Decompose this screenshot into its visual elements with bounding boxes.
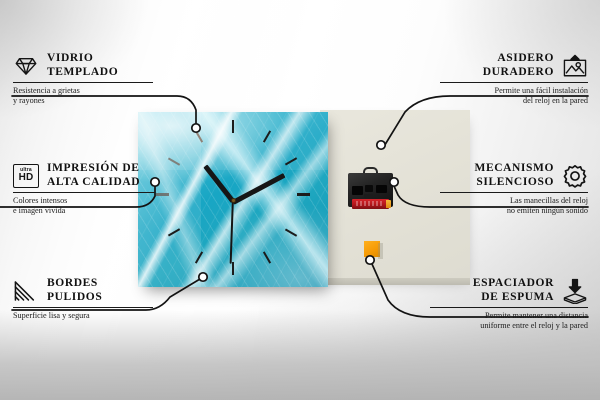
feature-title-line2: PULIDOS — [47, 291, 102, 305]
clock-center-pivot — [231, 198, 236, 203]
feature-title-line1: ASIDERO — [440, 52, 554, 66]
feature-rule — [430, 307, 588, 308]
feature-desc-line1: Permite mantener una distancia — [430, 311, 588, 322]
feature-title-line1: VIDRIO — [47, 52, 118, 66]
hanging-frame-icon — [562, 53, 588, 79]
mechanism-detail — [365, 185, 373, 192]
feature-title-line1: MECANISMO — [440, 162, 554, 176]
feature-desc-line1: Las manecillas del reloj — [440, 196, 588, 207]
clock-tick-9 — [156, 193, 169, 196]
feature-vidrio-templado[interactable]: VIDRIO TEMPLADO Resistencia a grietas y … — [13, 52, 153, 107]
feature-rule — [440, 192, 588, 193]
feature-title-line2: ALTA CALIDAD — [47, 176, 140, 190]
feature-title-line1: BORDES — [47, 277, 102, 291]
feature-rule — [13, 192, 155, 193]
ultra-hd-icon: ultra HD — [13, 164, 39, 188]
feature-mecanismo-silencioso[interactable]: MECANISMO SILENCIOSO Las manecillas del … — [440, 162, 588, 217]
feature-desc-line2: del reloj en la pared — [440, 96, 588, 107]
clock-tick-3 — [297, 193, 310, 196]
feature-title-line1: IMPRESIÓN DE — [47, 162, 140, 176]
infographic-stage: VIDRIO TEMPLADO Resistencia a grietas y … — [0, 0, 600, 400]
feature-desc-line2: no emiten ningún sonido — [440, 206, 588, 217]
feature-rule — [440, 82, 588, 83]
foam-spacer-icon — [562, 278, 588, 304]
feature-bordes-pulidos[interactable]: BORDES PULIDOS Superficie lisa y segura — [13, 277, 153, 321]
clock-mechanism — [348, 167, 393, 207]
polished-edges-icon — [13, 278, 39, 304]
feature-title-line2: SILENCIOSO — [440, 176, 554, 190]
diamond-icon — [13, 53, 39, 79]
feature-rule — [13, 82, 153, 83]
feature-desc-line2: uniforme entre el reloj y la pared — [430, 321, 588, 332]
mechanism-detail — [376, 185, 387, 193]
feature-desc-line1: Resistencia a grietas — [13, 86, 153, 97]
feature-desc-line1: Colores intensos — [13, 196, 155, 207]
feature-title-line2: DURADERO — [440, 66, 554, 80]
feature-espaciador-de-espuma[interactable]: ESPACIADOR DE ESPUMA Permite mantener un… — [430, 277, 588, 332]
feature-asidero-duradero[interactable]: ASIDERO DURADERO Permite una fácil insta… — [440, 52, 588, 107]
mechanism-detail — [352, 186, 363, 195]
feature-title-line2: DE ESPUMA — [430, 291, 554, 305]
mechanism-battery — [352, 199, 389, 209]
feature-desc-line2: e imagen vívida — [13, 206, 155, 217]
feature-desc-line1: Permite una fácil instalación — [440, 86, 588, 97]
feature-rule — [13, 307, 153, 308]
battery-label — [356, 201, 383, 206]
ultra-hd-icon-bottom: HD — [19, 173, 34, 183]
feature-desc-line1: Superficie lisa y segura — [13, 311, 153, 322]
feature-desc-line2: y rayones — [13, 96, 153, 107]
foam-spacer — [364, 241, 380, 257]
clock-tick-12 — [232, 120, 234, 133]
feature-title-line2: TEMPLADO — [47, 66, 118, 80]
clock-tick-6 — [232, 262, 234, 275]
mechanism-body — [348, 173, 393, 207]
mechanism-detail — [364, 194, 373, 198]
feature-impresion-alta-calidad[interactable]: ultra HD IMPRESIÓN DE ALTA CALIDAD Color… — [13, 162, 155, 217]
feature-title-line1: ESPACIADOR — [430, 277, 554, 291]
gear-icon — [562, 163, 588, 189]
